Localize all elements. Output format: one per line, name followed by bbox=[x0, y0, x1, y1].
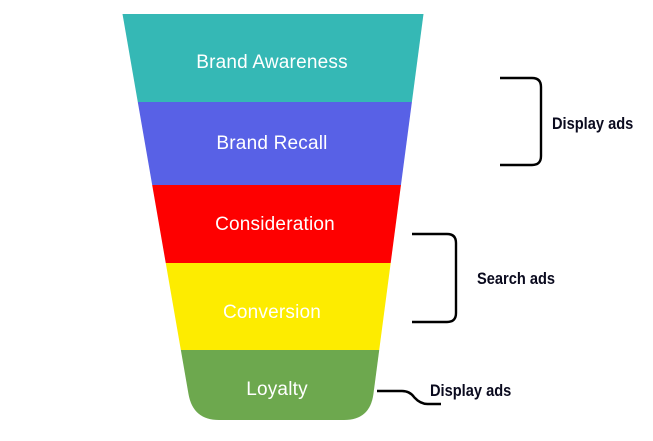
funnel-graphic bbox=[0, 0, 653, 441]
funnel-diagram: Brand AwarenessBrand RecallConsideration… bbox=[0, 0, 653, 441]
funnel-segment-loyalty bbox=[181, 350, 379, 420]
annotation-label-search-ads: Search ads bbox=[477, 269, 555, 289]
funnel-shapes bbox=[123, 14, 424, 420]
annotation-label-display-ads-top: Display ads bbox=[552, 114, 633, 134]
funnel-segment-brand-awareness bbox=[123, 14, 424, 102]
annotation-connector-display-ads-top bbox=[500, 78, 541, 165]
funnel-segment-consideration bbox=[152, 185, 401, 263]
funnel-segment-brand-recall bbox=[138, 102, 412, 185]
annotation-label-display-ads-bottom: Display ads bbox=[430, 381, 511, 401]
funnel-segment-conversion bbox=[166, 263, 391, 350]
annotation-connector-search-ads bbox=[412, 234, 456, 322]
